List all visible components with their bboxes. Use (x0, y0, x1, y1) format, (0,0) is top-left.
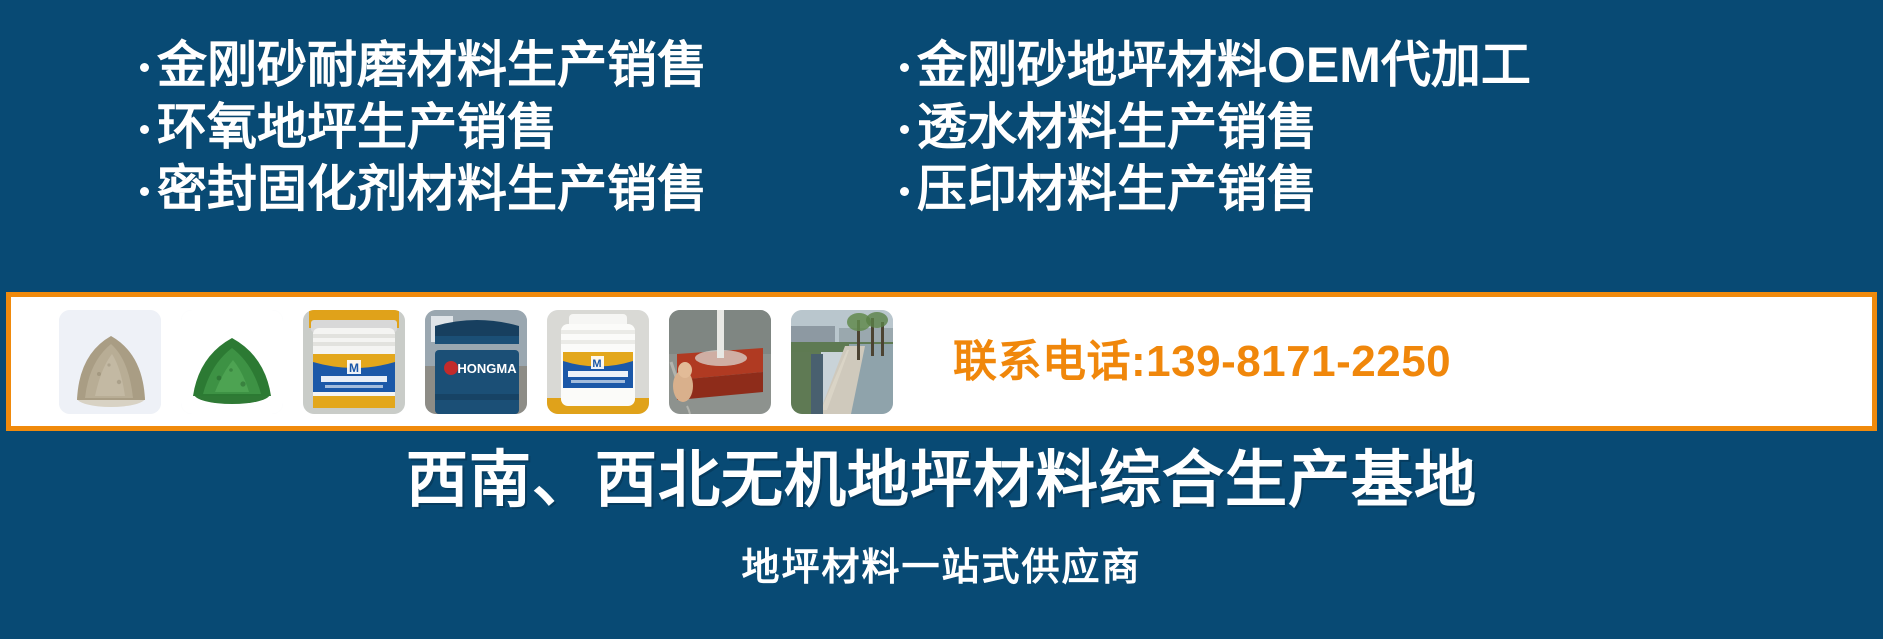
services-section: 金刚砂耐磨材料生产销售 环氧地坪生产销售 密封固化剂材料生产销售 金刚砂地坪材料… (0, 22, 1883, 250)
bullet-dot-icon (140, 63, 149, 72)
bullet-dot-icon (900, 125, 909, 134)
product-strip: M HONGMA (6, 292, 1877, 431)
service-item: 压印材料生产销售 (900, 160, 1883, 218)
bullet-dot-icon (140, 125, 149, 134)
grey-powder-heap-photo (59, 310, 161, 414)
services-left-column: 金刚砂耐磨材料生产销售 环氧地坪生产销售 密封固化剂材料生产销售 (0, 22, 880, 222)
service-item: 环氧地坪生产销售 (140, 98, 880, 156)
service-label: 透水材料生产销售 (917, 98, 1317, 156)
promo-banner: 金刚砂耐磨材料生产销售 环氧地坪生产销售 密封固化剂材料生产销售 金刚砂地坪材料… (0, 0, 1883, 639)
service-item: 金刚砂地坪材料OEM代加工 (900, 36, 1883, 94)
bullet-dot-icon (900, 187, 909, 196)
service-label: 环氧地坪生产销售 (157, 98, 557, 156)
white-yellow-bucket-photo: M (303, 310, 405, 414)
service-item: 金刚砂耐磨材料生产销售 (140, 36, 880, 94)
service-label: 压印材料生产销售 (917, 160, 1317, 218)
svg-text:M: M (349, 361, 359, 375)
footer-headline: 西南、西北无机地坪材料综合生产基地 (0, 445, 1883, 517)
green-powder-heap-photo (181, 310, 283, 414)
service-item: 密封固化剂材料生产销售 (140, 160, 880, 218)
service-label: 密封固化剂材料生产销售 (157, 160, 707, 218)
bullet-dot-icon (900, 63, 909, 72)
white-blue-bucket-photo: M (547, 310, 649, 414)
service-item: 透水材料生产销售 (900, 98, 1883, 156)
service-label: 金刚砂地坪材料OEM代加工 (917, 36, 1531, 94)
stamped-concrete-path-photo (791, 310, 893, 414)
bullet-dot-icon (140, 187, 149, 196)
service-label: 金刚砂耐磨材料生产销售 (157, 36, 707, 94)
blue-drum-photo: HONGMA (425, 310, 527, 414)
footer-subhead: 地坪材料一站式供应商 (0, 545, 1883, 591)
permeable-concrete-sample-photo (669, 310, 771, 414)
contact-phone[interactable]: 联系电话:139-8171-2250 (953, 340, 1451, 384)
svg-text:M: M (592, 358, 601, 370)
product-photo-row: M HONGMA (11, 310, 893, 414)
svg-text:HONGMA: HONGMA (457, 361, 517, 376)
services-right-column: 金刚砂地坪材料OEM代加工 透水材料生产销售 压印材料生产销售 (880, 22, 1883, 222)
